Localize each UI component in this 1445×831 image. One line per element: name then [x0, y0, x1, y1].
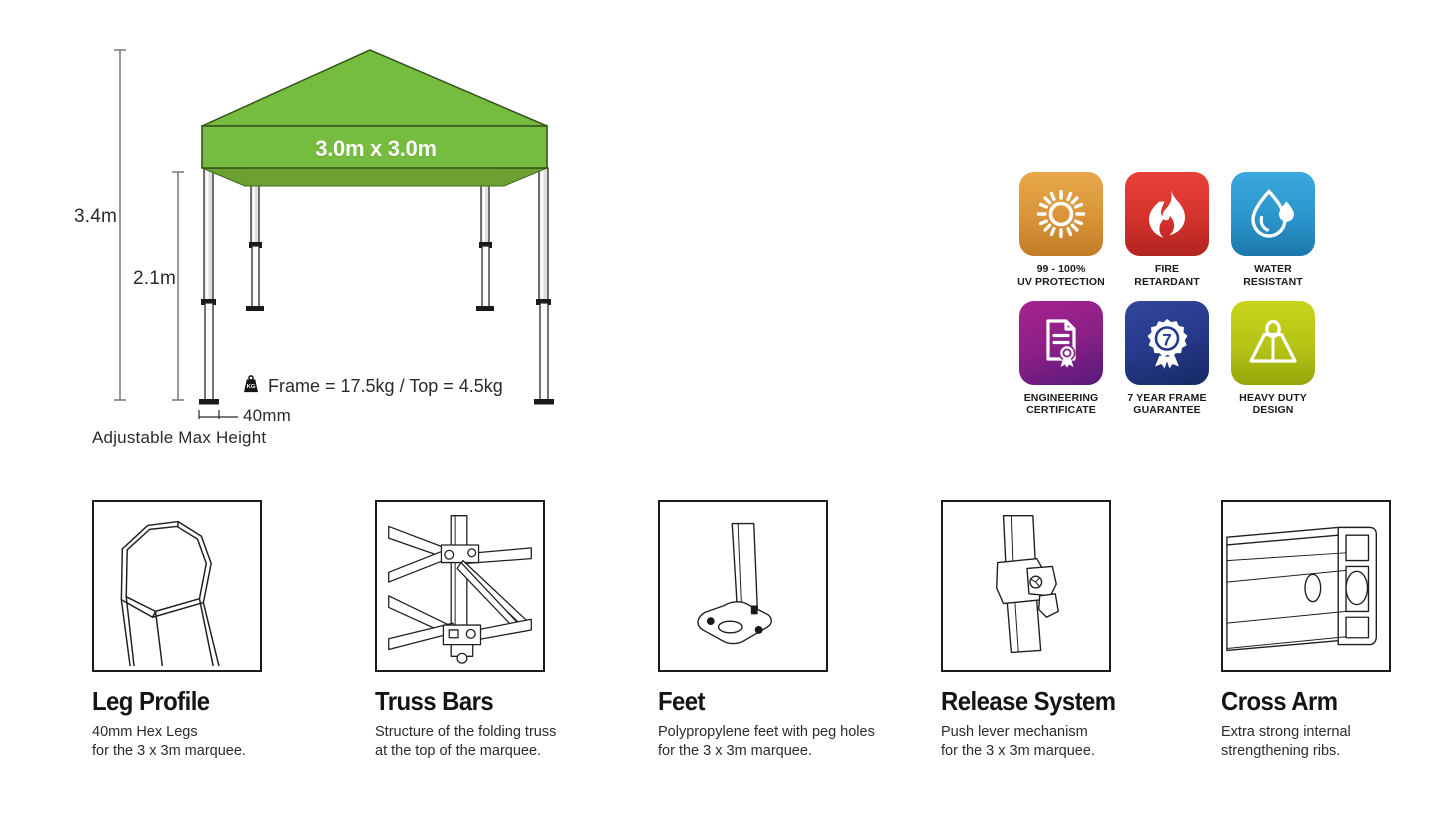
card-description: Push lever mechanismfor the 3 x 3m marqu…: [941, 723, 1201, 761]
badge-uv-protection: 99 - 100%UV PROTECTION: [1012, 172, 1110, 289]
flame-icon: [1144, 188, 1190, 240]
heavy-duty-design-tile: [1231, 301, 1315, 385]
hex-leg-icon: [94, 502, 260, 670]
badge-label: FIRERETARDANT: [1134, 263, 1199, 289]
feature-card-truss-bars: Truss Bars Structure of the folding trus…: [375, 500, 635, 761]
canopy-size-label: 3.0m x 3.0m: [205, 136, 547, 162]
feature-card-cross-arm: Cross Arm Extra strong internalstrengthe…: [1221, 500, 1445, 761]
canopy-roof: [202, 50, 547, 126]
marquee-legs: [199, 168, 554, 405]
heavy-weight-icon: [1247, 319, 1299, 367]
leg-profile-figure: [92, 500, 262, 672]
rosette-7-icon: 7: [1142, 317, 1192, 369]
badge-label: 99 - 100%UV PROTECTION: [1017, 263, 1105, 289]
canopy-shade: [202, 168, 547, 186]
sun-icon: [1035, 188, 1087, 240]
card-title: Truss Bars: [375, 688, 614, 714]
card-title: Feet: [658, 688, 897, 714]
badge-fire-retardant: FIRERETARDANT: [1118, 172, 1216, 289]
engineering-certificate-tile: [1019, 301, 1103, 385]
badge-frame-guarantee: 7 7 YEAR FRAMEGUARANTEE: [1118, 301, 1216, 418]
feet-figure: [658, 500, 828, 672]
svg-text:KG: KG: [247, 384, 256, 390]
badge-heavy-duty-design: HEAVY DUTYDESIGN: [1224, 301, 1322, 418]
foot-plate-icon: [660, 502, 826, 670]
uv-protection-tile: [1019, 172, 1103, 256]
marquee-spec-sheet: 3.4m 2.1m 40mm Adjustable Max Height KG …: [0, 0, 1445, 831]
marquee-diagram: 3.4m 2.1m 40mm Adjustable Max Height KG …: [0, 0, 620, 470]
badge-water-resistant: WATERRESISTANT: [1224, 172, 1322, 289]
badge-engineering-certificate: ENGINEERINGCERTIFICATE: [1012, 301, 1110, 418]
truss-bars-figure: [375, 500, 545, 672]
badge-label: 7 YEAR FRAMEGUARANTEE: [1127, 392, 1206, 418]
badge-label: ENGINEERINGCERTIFICATE: [1024, 392, 1099, 418]
card-title: Cross Arm: [1221, 688, 1445, 714]
feature-badges: 99 - 100%UV PROTECTION FIRERETARDANT WAT…: [1012, 172, 1322, 417]
feature-card-feet: Feet Polypropylene feet with peg holesfo…: [658, 500, 918, 761]
card-title: Release System: [941, 688, 1180, 714]
marquee-drawing: [0, 0, 620, 470]
card-description: Extra strong internalstrengthening ribs.: [1221, 723, 1445, 761]
total-height-label: 3.4m: [74, 206, 117, 228]
release-lever-icon: [943, 502, 1109, 670]
weight-kg-icon: KG: [240, 374, 262, 396]
adjustable-max-height-note: Adjustable Max Height: [92, 428, 266, 448]
feature-card-release-system: Release System Push lever mechanismfor t…: [941, 500, 1201, 761]
card-description: 40mm Hex Legsfor the 3 x 3m marquee.: [92, 723, 352, 761]
dimension-line-leg-width: [199, 410, 238, 419]
leg-height-label: 2.1m: [133, 268, 176, 290]
cross-arm-icon: [1223, 502, 1389, 670]
leg-width-label: 40mm: [243, 406, 291, 426]
card-description: Structure of the folding trussat the top…: [375, 723, 635, 761]
card-title: Leg Profile: [92, 688, 331, 714]
badge-label: WATERRESISTANT: [1243, 263, 1303, 289]
water-drop-icon: [1248, 188, 1298, 240]
svg-text:7: 7: [1162, 330, 1171, 349]
truss-bars-icon: [377, 502, 543, 670]
frame-guarantee-tile: 7: [1125, 301, 1209, 385]
cross-arm-figure: [1221, 500, 1391, 672]
release-system-figure: [941, 500, 1111, 672]
water-resistant-tile: [1231, 172, 1315, 256]
badge-label: HEAVY DUTYDESIGN: [1239, 392, 1307, 418]
card-description: Polypropylene feet with peg holesfor the…: [658, 723, 918, 761]
certificate-icon: [1037, 317, 1085, 369]
fire-retardant-tile: [1125, 172, 1209, 256]
feature-cards: Leg Profile 40mm Hex Legsfor the 3 x 3m …: [0, 500, 1445, 831]
feature-card-leg-profile: Leg Profile 40mm Hex Legsfor the 3 x 3m …: [92, 500, 352, 761]
weight-text: Frame = 17.5kg / Top = 4.5kg: [268, 376, 503, 397]
